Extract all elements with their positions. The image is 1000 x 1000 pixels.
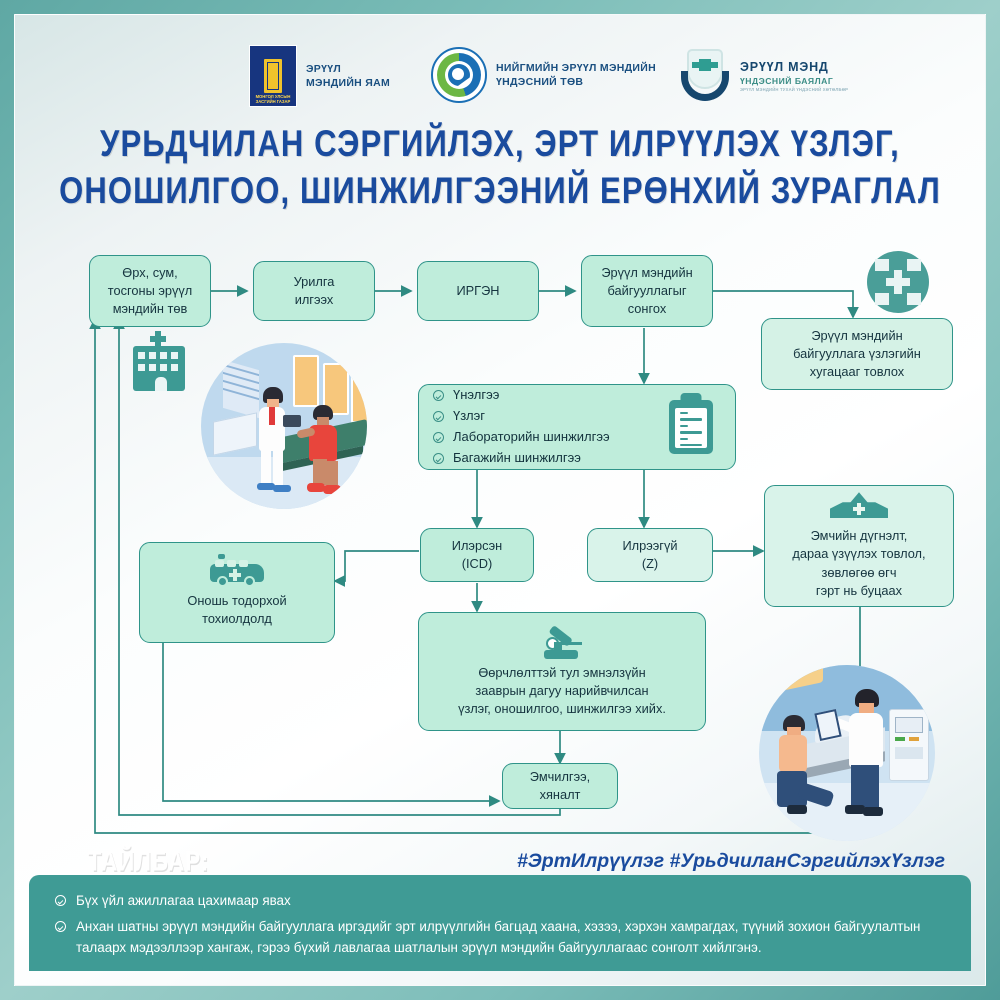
page-title-line2: ОНОШИЛГОО, ШИНЖИЛГЭЭНИЙ ЕРӨНХИЙ ЗУРАГЛАЛ [44, 167, 956, 214]
clipboard-icon [669, 400, 713, 454]
check-circle-icon [433, 432, 444, 443]
node-line: байгууллага үзлэгийн [793, 345, 921, 363]
shield-cross-hands-icon [679, 47, 731, 105]
node-examination-checklist[interactable]: Үнэлгээ Үзлэг Лабораторийн шинжилгээ Баг… [418, 384, 736, 470]
node-line: мэндийн төв [113, 300, 188, 318]
logo-ministry-of-health: МОНГОЛ УЛСЫН ЗАСГИЙН ГАЗАР ЭРҮҮЛ МЭНДИЙН… [249, 45, 390, 107]
medical-cross-circle-icon [867, 251, 929, 313]
soyombo-flag-icon: МОНГОЛ УЛСЫН ЗАСГИЙН ГАЗАР [249, 45, 297, 107]
list-item: Анхан шатны эрүүл мэндийн байгууллага ир… [55, 917, 949, 959]
node-line: зааврын дагуу нарийвчилсан [475, 682, 648, 700]
list-item: Бүх үйл ажиллагаа цахимаар явах [55, 891, 949, 912]
node-line: тохиолдолд [202, 610, 272, 628]
footer-notes-list: Бүх үйл ажиллагаа цахимаар явах Анхан ша… [55, 891, 949, 958]
logo-badge-caption: МОНГОЛ УЛСЫН ЗАСГИЙН ГАЗАР [250, 94, 296, 105]
node-line: Өрх, сум, [122, 264, 177, 282]
microscope-icon [536, 625, 588, 659]
node-family-soum-health-center[interactable]: Өрх, сум, тосгоны эрүүл мэндийн төв [89, 255, 211, 327]
header-logos: МОНГОЛ УЛСЫН ЗАСГИЙН ГАЗАР ЭРҮҮЛ МЭНДИЙН… [15, 29, 985, 109]
logo-nphc-label: НИЙГМИЙН ЭРҮҮЛ МЭНДИЙН ҮНДЭСНИЙ ТӨВ [496, 61, 656, 89]
node-line: Эмчийн дүгнэлт, [811, 527, 908, 545]
nphc-emblem-icon [431, 47, 487, 103]
node-line: Урилга [294, 273, 335, 291]
logo-national-center-public-health: НИЙГМИЙН ЭРҮҮЛ МЭНДИЙН ҮНДЭСНИЙ ТӨВ [431, 47, 656, 103]
node-line: Илэрсэн [452, 537, 502, 555]
node-line: байгууллагыг [607, 282, 686, 300]
content-panel: МОНГОЛ УЛСЫН ЗАСГИЙН ГАЗАР ЭРҮҮЛ МЭНДИЙН… [14, 14, 986, 986]
ambulance-icon [210, 557, 264, 587]
check-circle-icon [433, 453, 444, 464]
node-schedule-screening-date[interactable]: Эрүүл мэндийн байгууллага үзлэгийн хугац… [761, 318, 953, 390]
node-line: хугацааг товлох [810, 363, 904, 381]
node-clear-diagnosis-case[interactable]: Оношь тодорхой тохиолдолд [139, 542, 335, 643]
node-line: хяналт [540, 786, 581, 804]
node-line: Эрүүл мэндийн [811, 327, 902, 345]
node-doctor-conclusion-next-appointment[interactable]: Эмчийн дүгнэлт, дараа үзүүлэх товлол, зө… [764, 485, 954, 607]
node-line: Эрүүл мэндийн [601, 264, 692, 282]
logo-nphc-line2: ҮНДЭСНИЙ ТӨВ [496, 75, 656, 89]
node-detailed-exam-per-guideline[interactable]: Өөрчлөлттэй тул эмнэлзүйн зааврын дагуу … [418, 612, 706, 731]
check-circle-icon [433, 411, 444, 422]
checklist-label: Лабораторийн шинжилгээ [453, 428, 610, 446]
node-line: тосгоны эрүүл [108, 282, 192, 300]
checklist-label: Үнэлгээ [453, 386, 499, 404]
list-item: Үзлэг [433, 407, 610, 425]
node-not-detected-z[interactable]: Илрээгүй (Z) [587, 528, 713, 582]
node-treatment-monitoring[interactable]: Эмчилгээ, хяналт [502, 763, 618, 809]
list-item: Багажийн шинжилгээ [433, 449, 610, 467]
node-line: дараа үзүүлэх товлол, [792, 545, 925, 563]
footer-notes-band: Бүх үйл ажиллагаа цахимаар явах Анхан ша… [29, 875, 971, 971]
node-line: ИРГЭН [456, 282, 499, 300]
node-detected-icd[interactable]: Илэрсэн (ICD) [420, 528, 534, 582]
node-line: илгээх [295, 291, 334, 309]
logo-health-national-wealth: ЭРҮҮЛ МЭНД ҮНДЭСНИЙ БАЯЛАГ ЭРҮҮЛ МЭНДИЙН… [679, 47, 848, 105]
logo-nphc-line1: НИЙГМИЙН ЭРҮҮЛ МЭНДИЙН [496, 61, 656, 75]
node-choose-health-organization[interactable]: Эрүүл мэндийн байгууллагыг сонгох [581, 255, 713, 327]
hospital-icon [131, 331, 187, 391]
list-item: Лабораторийн шинжилгээ [433, 428, 610, 446]
soyombo-symbol-icon [264, 59, 282, 93]
logo-wealth-label: ЭРҮҮЛ МЭНД ҮНДЭСНИЙ БАЯЛАГ ЭРҮҮЛ МЭНДИЙН… [740, 59, 848, 93]
illustration-doctor-examining-patient [759, 665, 935, 841]
node-line: Илрээгүй [622, 537, 677, 555]
logo-wealth-line3: ЭРҮҮЛ МЭНДИЙН ТУХАЙ ҮНДЭСНИЙ ХӨТӨЛБӨР [740, 87, 848, 93]
check-circle-icon [433, 390, 444, 401]
node-citizen[interactable]: ИРГЭН [417, 261, 539, 321]
footer-legend-label: ТАЙЛБАР: [88, 847, 210, 879]
node-line: зөвлөгөө өгч [822, 564, 897, 582]
logo-ministry-line1: ЭРҮҮЛ [306, 62, 390, 76]
list-item: Үнэлгээ [433, 386, 610, 404]
infographic-page: МОНГОЛ УЛСЫН ЗАСГИЙН ГАЗАР ЭРҮҮЛ МЭНДИЙН… [0, 0, 1000, 1000]
node-line: (ICD) [462, 555, 493, 573]
check-circle-icon [55, 921, 66, 932]
checklist-label: Багажийн шинжилгээ [453, 449, 581, 467]
checklist: Үнэлгээ Үзлэг Лабораторийн шинжилгээ Баг… [433, 384, 610, 470]
node-send-invitation[interactable]: Урилга илгээх [253, 261, 375, 321]
footer-note-text: Бүх үйл ажиллагаа цахимаар явах [76, 891, 291, 912]
footer-note-text: Анхан шатны эрүүл мэндийн байгууллага ир… [76, 917, 949, 959]
node-line: гэрт нь буцаах [816, 582, 902, 600]
footer-hashtags: #ЭртИлрүүлэг #УрьдчиланСэргийлэхҮзлэг [517, 850, 945, 873]
node-line: Оношь тодорхой [187, 592, 286, 610]
checklist-label: Үзлэг [453, 407, 485, 425]
logo-ministry-label: ЭРҮҮЛ МЭНДИЙН ЯАМ [306, 62, 390, 90]
logo-wealth-line2: ҮНДЭСНИЙ БАЯЛАГ [740, 76, 848, 88]
logo-wealth-line1: ЭРҮҮЛ МЭНД [740, 59, 848, 76]
node-line: үзлэг, оношилгоо, шинжилгээ хийх. [458, 700, 666, 718]
nurse-cap-icon [830, 492, 888, 522]
page-title: УРЬДЧИЛАН СЭРГИЙЛЭХ, ЭРТ ИЛРҮҮЛЭХ ҮЗЛЭГ,… [44, 120, 956, 215]
logo-ministry-line2: МЭНДИЙН ЯАМ [306, 76, 390, 90]
node-line: Өөрчлөлттэй тул эмнэлзүйн [478, 664, 645, 682]
node-line: (Z) [642, 555, 658, 573]
page-title-line1: УРЬДЧИЛАН СЭРГИЙЛЭХ, ЭРТ ИЛРҮҮЛЭХ ҮЗЛЭГ, [44, 120, 956, 167]
illustration-doctor-consulting-patient [201, 343, 367, 509]
node-line: сонгох [628, 300, 666, 318]
node-line: Эмчилгээ, [530, 768, 590, 786]
check-circle-icon [55, 895, 66, 906]
